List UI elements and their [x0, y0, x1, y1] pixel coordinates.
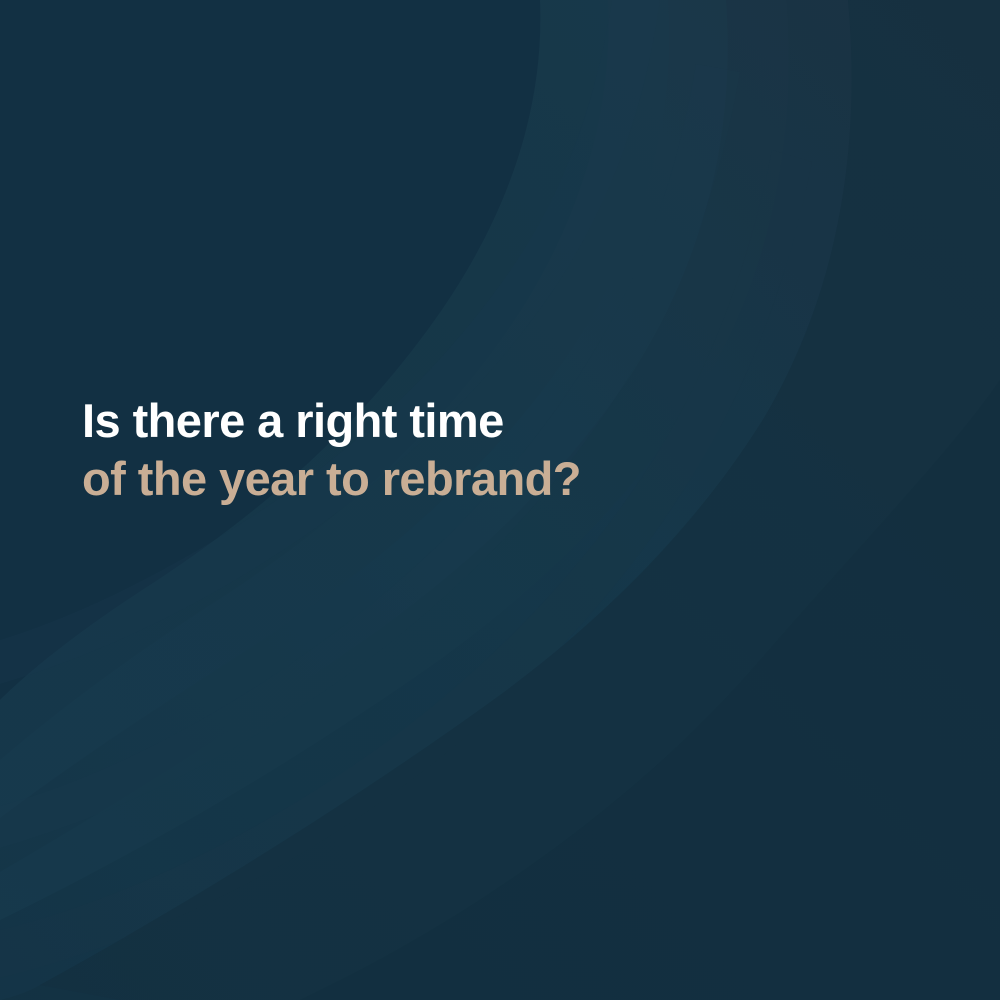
social-card: Is there a right time of the year to reb…: [0, 0, 1000, 1000]
headline-line-1: Is there a right time: [82, 392, 702, 450]
headline-line-2: of the year to rebrand?: [82, 450, 702, 508]
headline-block: Is there a right time of the year to reb…: [82, 392, 702, 508]
